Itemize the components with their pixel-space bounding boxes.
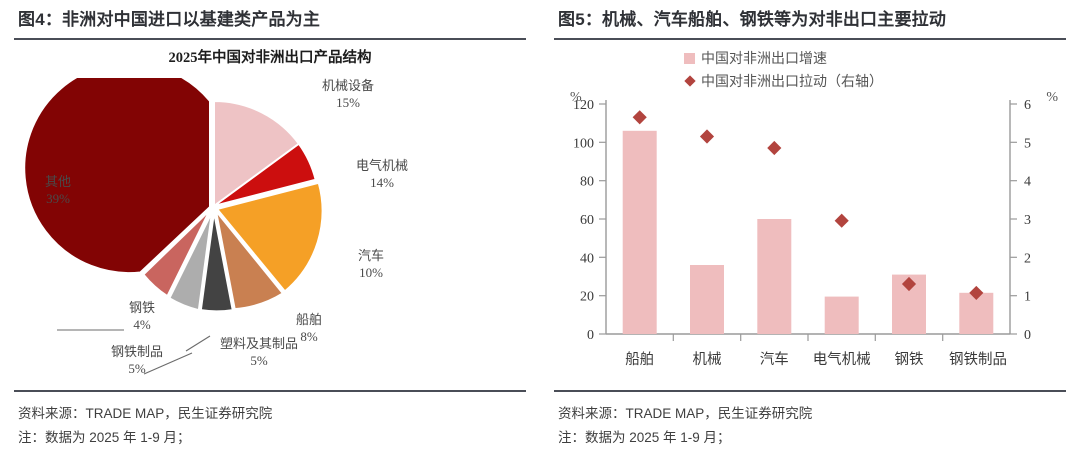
bar-ships[interactable] xyxy=(623,131,657,334)
x-label-machinery: 机械 xyxy=(693,351,722,368)
pie-chart-plot: 机械设备 15% 电气机械 14% 汽车 10% 船舶 8% 塑料及其制品 xyxy=(14,78,526,378)
bar-automobile[interactable] xyxy=(757,219,791,334)
figure-5-panel: 图5：机械、汽车船舶、钢铁等为对非出口主要拉动 中国对非洲出口增速 中国对非洲出… xyxy=(540,0,1080,462)
pie-label-name: 其他 xyxy=(28,174,88,190)
left-tick-80: 80 xyxy=(580,175,594,190)
pie-label-electrical-machinery: 电气机械 14% xyxy=(334,158,430,191)
pie-label-machinery-equipment: 机械设备 15% xyxy=(300,78,396,111)
pie-label-value: 14% xyxy=(334,175,430,191)
pie-label-steel-products: 钢铁制品 5% xyxy=(82,344,192,377)
x-label-steel: 钢铁 xyxy=(895,351,924,368)
figure-5-source: 资料来源：TRADE MAP，民生证券研究院 xyxy=(558,402,1062,426)
pie-label-name: 机械设备 xyxy=(300,78,396,94)
pie-label-value: 5% xyxy=(204,353,314,369)
left-tick-60: 60 xyxy=(580,213,594,228)
bar-series-export-growth xyxy=(623,131,994,334)
pie-label-name: 电气机械 xyxy=(334,158,430,174)
x-label-electrical-machinery: 电气机械 xyxy=(813,351,871,368)
figure-4-title: 图4：非洲对中国进口以基建类产品为主 xyxy=(14,0,526,40)
pie-label-steel: 钢铁 4% xyxy=(114,300,170,333)
marker-ships[interactable] xyxy=(633,111,647,125)
marker-automobile[interactable] xyxy=(767,141,781,155)
legend-item-export-growth[interactable]: 中国对非洲出口增速 xyxy=(684,48,883,68)
right-tick-1: 1 xyxy=(1024,290,1031,305)
bar-chart-svg: 0 20 40 60 80 100 120 0 1 xyxy=(554,76,1066,390)
x-axis-category-ticks xyxy=(673,334,942,341)
bar-chart-area: 中国对非洲出口增速 中国对非洲出口拉动（右轴） % % xyxy=(554,40,1066,390)
pie-svg xyxy=(14,78,526,378)
pie-label-value: 5% xyxy=(82,361,192,377)
pie-label-automobile: 汽车 10% xyxy=(336,248,406,281)
pie-label-others: 其他 39% xyxy=(28,174,88,207)
square-swatch-icon xyxy=(684,53,695,64)
figure-pair-container: 图4：非洲对中国进口以基建类产品为主 2025年中国对非洲出口产品结构 xyxy=(0,0,1080,462)
pie-label-value: 15% xyxy=(300,95,396,111)
pie-label-name: 船舶 xyxy=(282,312,336,328)
left-tick-0: 0 xyxy=(587,328,594,343)
marker-machinery[interactable] xyxy=(700,130,714,144)
left-tick-40: 40 xyxy=(580,252,594,267)
legend-label-export-growth: 中国对非洲出口增速 xyxy=(701,48,827,68)
pie-label-value: 4% xyxy=(114,317,170,333)
right-tick-5: 5 xyxy=(1024,137,1031,152)
figure-4-note: 注：数据为 2025 年 1-9 月； xyxy=(18,426,522,450)
bar-machinery[interactable] xyxy=(690,265,724,334)
figure-5-note: 注：数据为 2025 年 1-9 月； xyxy=(558,426,1062,450)
right-tick-2: 2 xyxy=(1024,252,1031,267)
left-tick-20: 20 xyxy=(580,290,594,305)
figure-5-footer: 资料来源：TRADE MAP，民生证券研究院 注：数据为 2025 年 1-9 … xyxy=(554,390,1066,449)
pie-label-name: 汽车 xyxy=(336,248,406,264)
pie-chart-title: 2025年中国对非洲出口产品结构 xyxy=(14,46,526,67)
right-tick-4: 4 xyxy=(1024,175,1031,190)
right-tick-0: 0 xyxy=(1024,328,1031,343)
bar-electrical-machinery[interactable] xyxy=(825,297,859,334)
marker-series-export-pull xyxy=(633,111,984,301)
x-label-ships: 船舶 xyxy=(625,351,654,368)
right-axis-ticks xyxy=(1010,104,1017,334)
pie-label-value: 39% xyxy=(28,191,88,207)
pie-label-name: 塑料及其制品 xyxy=(204,336,314,352)
left-axis-ticks xyxy=(599,104,606,334)
pie-label-value: 10% xyxy=(336,265,406,281)
figure-4-source: 资料来源：TRADE MAP，民生证券研究院 xyxy=(18,402,522,426)
pie-chart-area: 2025年中国对非洲出口产品结构 xyxy=(14,40,526,390)
pie-label-plastics: 塑料及其制品 5% xyxy=(204,336,314,369)
right-tick-3: 3 xyxy=(1024,213,1031,228)
x-label-steel-products: 钢铁制品 xyxy=(949,351,1007,368)
pie-label-name: 钢铁 xyxy=(114,300,170,316)
left-tick-120: 120 xyxy=(573,98,594,113)
pie-label-name: 钢铁制品 xyxy=(82,344,192,360)
right-tick-6: 6 xyxy=(1024,98,1031,113)
figure-4-panel: 图4：非洲对中国进口以基建类产品为主 2025年中国对非洲出口产品结构 xyxy=(0,0,540,462)
figure-4-footer: 资料来源：TRADE MAP，民生证券研究院 注：数据为 2025 年 1-9 … xyxy=(14,390,526,449)
marker-electrical-machinery[interactable] xyxy=(835,214,849,228)
x-label-automobile: 汽车 xyxy=(760,351,789,368)
left-tick-100: 100 xyxy=(573,137,594,152)
figure-5-title: 图5：机械、汽车船舶、钢铁等为对非出口主要拉动 xyxy=(554,0,1066,40)
